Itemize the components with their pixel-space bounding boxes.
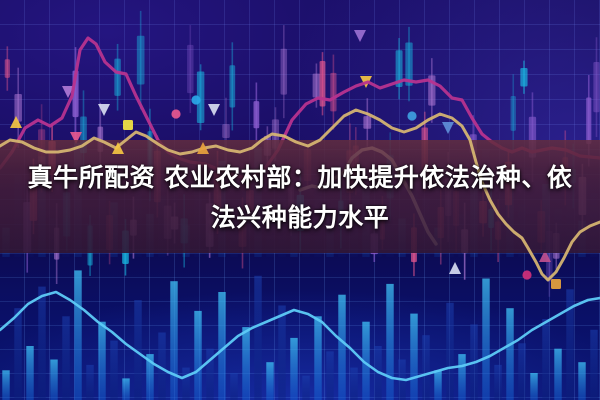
banner-image: 真牛所配资 农业农村部：加快提升依法治种、依 法兴种能力水平 — [0, 0, 600, 400]
headline-line-1: 真牛所配资 农业农村部：加快提升依法治种、依 — [0, 158, 600, 198]
headline-line-2: 法兴种能力水平 — [0, 198, 600, 238]
headline: 真牛所配资 农业农村部：加快提升依法治种、依 法兴种能力水平 — [0, 158, 600, 238]
